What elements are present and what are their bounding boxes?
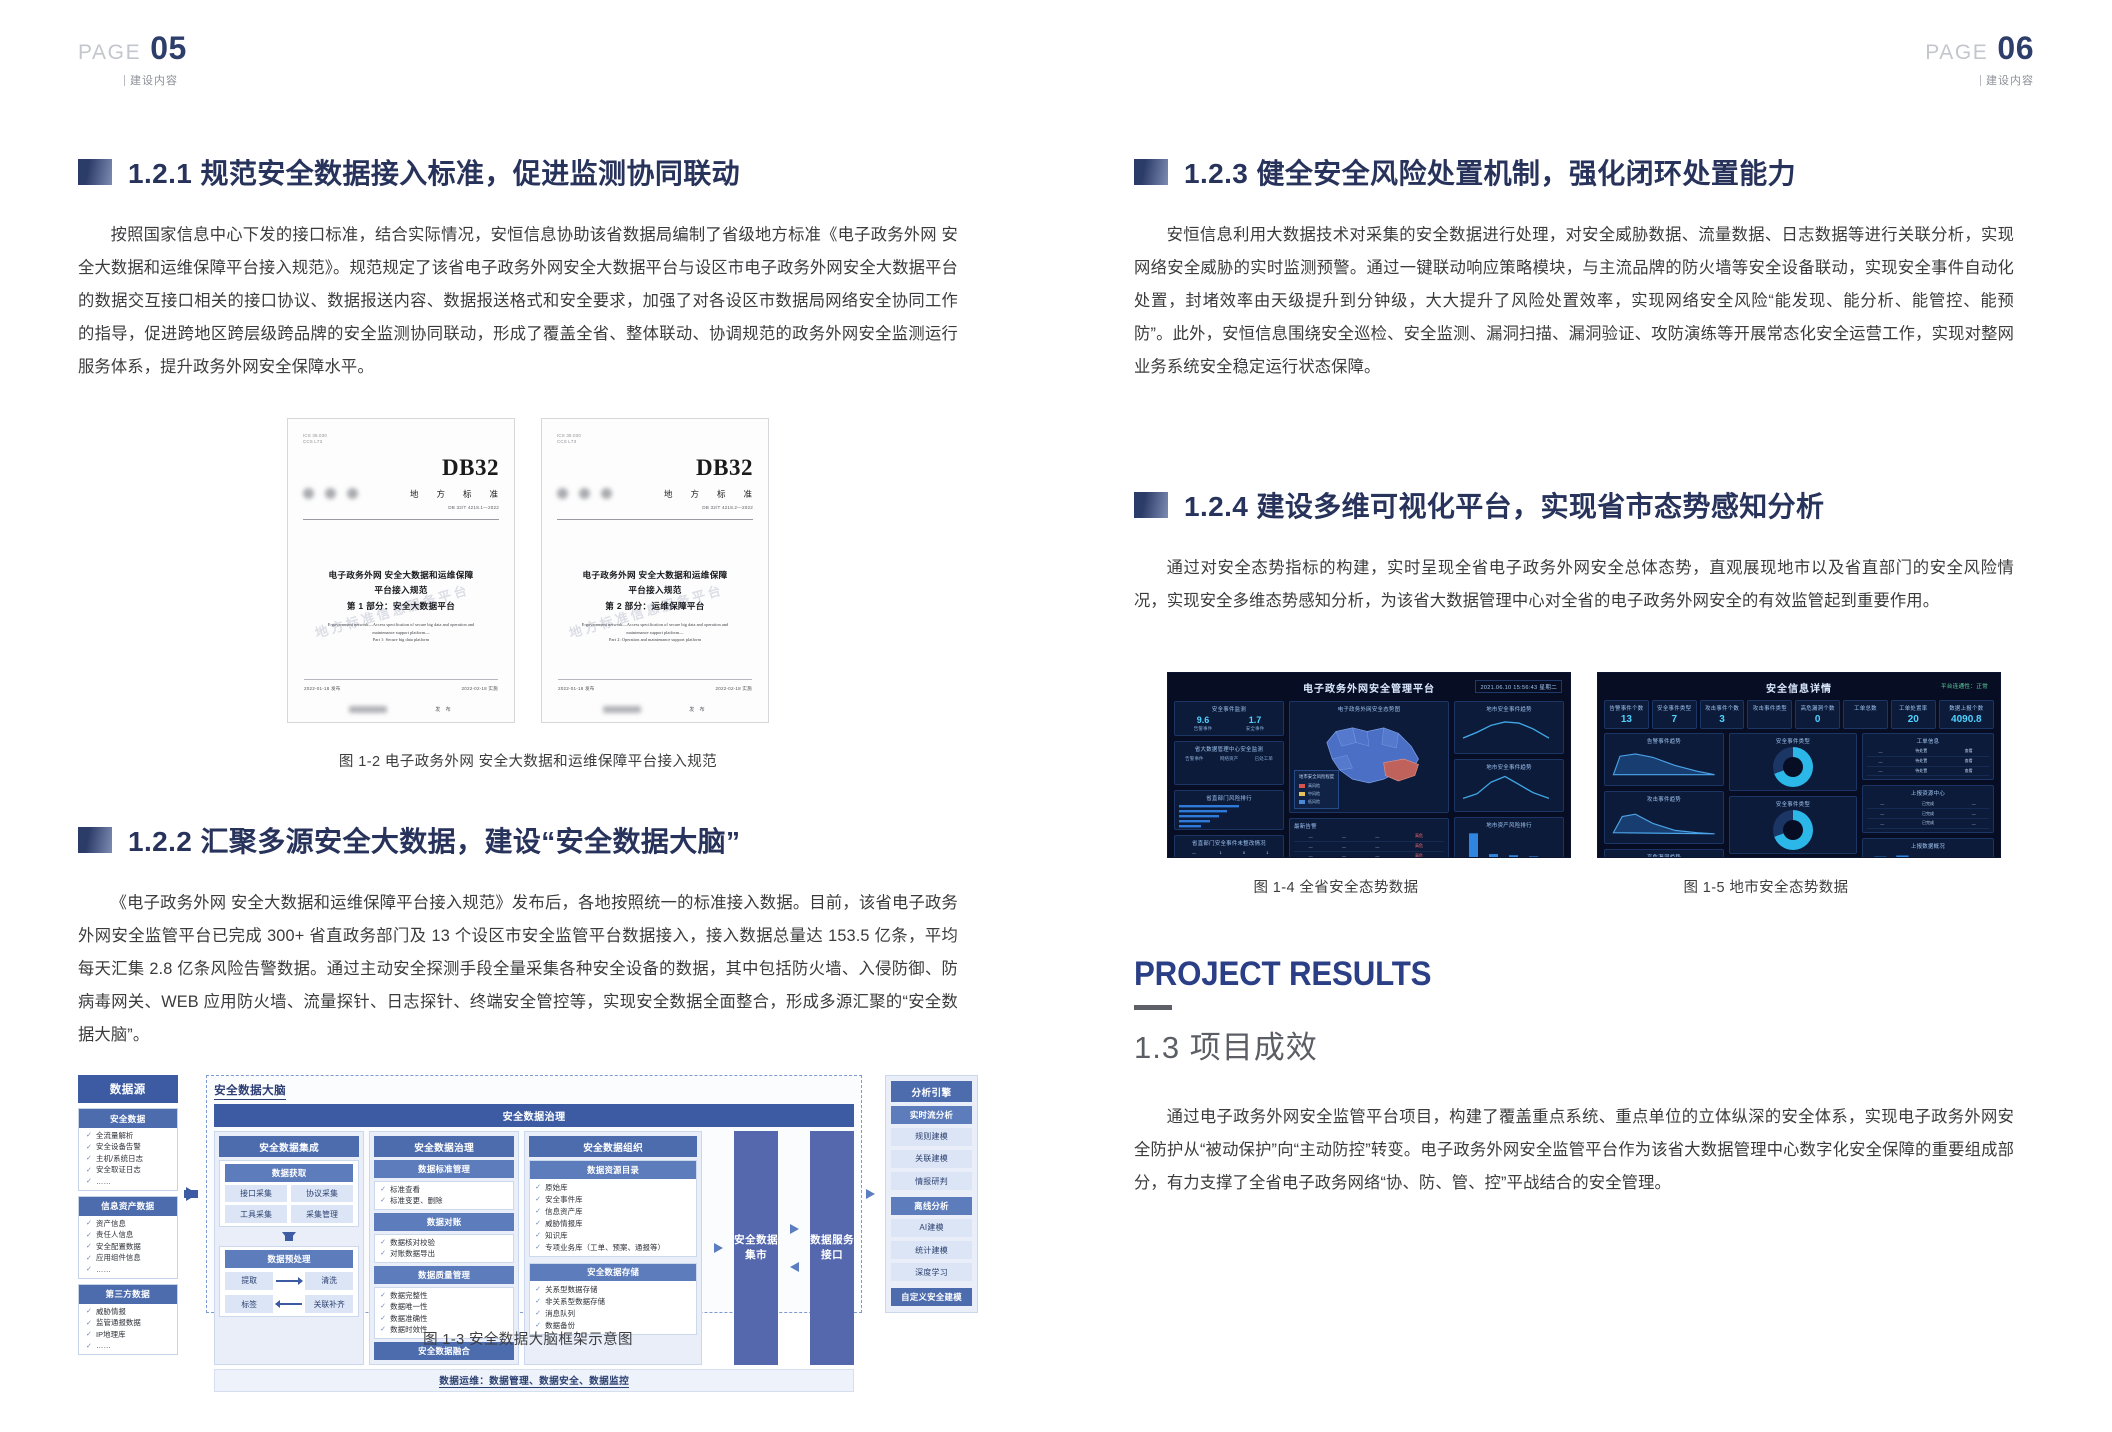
section-122: 1.2.2 汇聚多源安全大数据，建设“安全数据大脑” 《电子政务外网 安全大数据…: [78, 820, 978, 1052]
db32-footer-1: 2022-01-18 发布 2022-02-18 实施: [304, 679, 498, 692]
cell: 待处置: [1894, 756, 1948, 766]
dashboard-1-left-column: 安全事件监测 9.6告警事件 1.7安全事件 省大数据管理中心安全监测 告警事件…: [1174, 701, 1284, 858]
item-label: 标准查看: [390, 1185, 420, 1195]
ticket-table: —待处置查看 —待处置查看 —待处置查看: [1867, 747, 1989, 776]
cell: —: [1867, 799, 1898, 808]
cell: 查看: [1948, 747, 1989, 756]
acquire-cell: 采集管理: [291, 1205, 353, 1223]
db32-label-char: 方: [690, 488, 700, 500]
cell: 1: [1209, 857, 1232, 858]
db32-label-char: 标: [463, 488, 473, 500]
kpi-label: 高危漏洞个数: [1800, 704, 1835, 712]
section-123-title: 1.2.3 健全安全风险处置机制，强化闭环处置能力: [1184, 152, 1796, 192]
data-source-column: 数据源 安全数据 ✓全流量解析 ✓安全设备告警 ✓主机/系统日志 ✓安全取证日志…: [78, 1075, 178, 1313]
list-item: ✓安全取证日志: [86, 1165, 171, 1175]
panel-title: 地市安全事件趋势: [1459, 763, 1559, 771]
table-row: —待处置查看: [1867, 747, 1989, 756]
list-item: ✓……: [86, 1265, 171, 1275]
list-item: ✓应用组件信息: [86, 1253, 171, 1263]
flow-arrow-container: [178, 1075, 207, 1313]
list-item: ✓威胁情报库: [535, 1219, 691, 1229]
table-row: —已完成—: [1867, 809, 1989, 819]
redacted-blob-icon: [347, 488, 358, 499]
storage-block: 安全数据存储 ✓关系型数据存储 ✓非关系型数据存储 ✓消息队列 ✓数据备份: [529, 1263, 697, 1336]
list-item: ✓关系型数据存储: [535, 1285, 691, 1295]
kpi-label: 攻击事件个数: [1705, 704, 1740, 712]
dashboard-1-grid: 安全事件监测 9.6告警事件 1.7安全事件 省大数据管理中心安全监测 告警事件…: [1168, 695, 1570, 858]
divider-bar-icon: [124, 75, 125, 86]
page-word-label: PAGE: [1925, 41, 1988, 65]
source-group-title: 安全数据: [79, 1109, 177, 1128]
arrow-left-icon: [276, 1303, 302, 1304]
check-icon: ✓: [535, 1219, 541, 1228]
db32-logo-row-1: DB32: [303, 455, 499, 481]
item-label: 专项业务库（工单、预案、通报等）: [545, 1243, 665, 1253]
right-page-header: PAGE 06 建设内容: [1925, 30, 2034, 88]
kpi-security-events: 1.7安全事件: [1231, 715, 1279, 732]
dashboard-2-kpi-strip: 告警事件个数13 安全事件类型7 攻击事件个数3 攻击事件类型 高危漏洞个数0 …: [1598, 695, 2000, 729]
panel-title: 地市资产风险排行: [1459, 821, 1559, 829]
figure-1-2-caption: 图 1-2 电子政务外网 安全大数据和运维保障平台接入规范: [78, 750, 978, 771]
panel-title: 安全事件类型: [1776, 800, 1810, 808]
db32-publisher-2: 发 布: [689, 706, 706, 713]
source-group-items: ✓全流量解析 ✓安全设备告警 ✓主机/系统日志 ✓安全取证日志 ✓……: [79, 1128, 177, 1190]
section-123-paragraph: 安恒信息利用大数据技术对采集的安全数据进行处理，对安全威胁数据、流量数据、日志数…: [1134, 219, 2014, 384]
data-brain-label: 安全数据大脑: [214, 1082, 286, 1100]
preprocess-cell: 标签: [225, 1295, 273, 1313]
cell: 0: [1232, 849, 1255, 857]
table-row: ———高危: [1294, 832, 1444, 841]
arrow-right-icon: [186, 1187, 198, 1201]
divider-bar-icon: [1980, 75, 1981, 86]
kpi-value: 9.6: [1197, 715, 1210, 725]
cell: 已完成: [1898, 818, 1959, 828]
check-icon: ✓: [535, 1297, 541, 1306]
latest-alerts-table: ———高危 ———高危 ———高危 ———高危: [1294, 832, 1444, 858]
panel-title: 上报资源中心: [1867, 789, 1989, 797]
redacted-blob-icon: [303, 488, 314, 499]
db32-label-char: 地: [664, 488, 674, 500]
data-brain-region: 安全数据大脑 安全数据治理 安全数据集成 数据获取 接口采集 协议采集: [206, 1075, 862, 1313]
section-124-heading: 1.2.4 建设多维可视化平台，实现省市态势感知分析: [1134, 485, 2034, 525]
panel-ticket-info: 工单信息 —待处置查看 —待处置查看 —待处置查看: [1862, 733, 1994, 780]
dashboard-1-timestamp: 2021.06.10 15:56:43 星期二: [1475, 680, 1562, 693]
db32-effective-date-2: 2022-02-18 实施: [715, 686, 752, 692]
cell: —: [1327, 841, 1360, 851]
db32-label-char: 准: [743, 488, 753, 500]
kpi-value: 13: [1609, 714, 1644, 725]
storage-head: 安全数据存储: [530, 1264, 696, 1282]
table-row: —101: [1179, 849, 1279, 857]
preprocess-cell: 提取: [225, 1272, 273, 1290]
section-121-heading: 1.2.1 规范安全数据接入标准，促进监测协同联动: [78, 152, 978, 192]
list-item: ✓威胁情报: [86, 1307, 171, 1317]
kpi-card: 工单总数: [1843, 700, 1888, 729]
table-row: —已完成—: [1867, 818, 1989, 828]
panel-title: 告警事件趋势: [1609, 737, 1719, 745]
panel-title: 省大数据管理中心安全监测: [1179, 745, 1279, 753]
check-icon: ✓: [86, 1242, 92, 1251]
check-icon: ✓: [380, 1291, 386, 1300]
trend-line-chart: [1459, 715, 1559, 745]
list-item: ✓原始库: [535, 1183, 691, 1193]
integration-title: 安全数据集成: [219, 1136, 359, 1157]
list-item: ✓资产信息: [86, 1219, 171, 1229]
document-spread: PAGE 05 建设内容 1.2.1 规范安全数据接入标准，促进监测协同联动 按…: [0, 0, 2112, 1432]
map-title: 电子政务外网安全态势图: [1294, 705, 1444, 713]
trend-line-chart: [1459, 773, 1559, 803]
kpi-row: 9.6告警事件 1.7安全事件: [1179, 715, 1279, 732]
cell: —: [1361, 832, 1394, 841]
project-results-block: PROJECT RESULTS 1.3 项目成效 通过电子政务外网安全监管平台项…: [1134, 955, 2034, 1200]
left-page: PAGE 05 建设内容 1.2.1 规范安全数据接入标准，促进监测协同联动 按…: [0, 0, 1056, 1432]
list-item: ✓标准变更、删除: [380, 1196, 508, 1206]
quality-mgmt-head: 数据质量管理: [374, 1266, 514, 1284]
page-number-group: PAGE 05: [78, 30, 187, 67]
db32-label-row-2: 地 方 标 准: [557, 488, 753, 500]
page-number: 05: [150, 30, 187, 67]
kpi-tickets: 已处工单: [1248, 755, 1279, 762]
cell: —: [1179, 857, 1209, 858]
item-label: ……: [96, 1177, 111, 1187]
panel-province-map: 电子政务外网安全态势图 地市安全风险程度: [1289, 701, 1449, 813]
section-marker-icon: [1134, 492, 1168, 518]
list-item: ✓全流量解析: [86, 1131, 171, 1141]
dashboard-2-status: 平台连通性：正常: [1937, 680, 1992, 691]
kpi-label: 告警事件个数: [1609, 704, 1644, 712]
source-group-asset-data: 信息资产数据 ✓资产信息 ✓责任人信息 ✓安全配置数据 ✓应用组件信息 ✓……: [78, 1196, 178, 1279]
kpi-label: 数据上报个数: [1944, 704, 1989, 712]
section-122-heading: 1.2.2 汇聚多源安全大数据，建设“安全数据大脑”: [78, 820, 978, 860]
db32-label-char: 方: [436, 488, 446, 500]
kpi-card: 安全事件类型7: [1652, 700, 1697, 729]
data-source-header: 数据源: [78, 1075, 178, 1103]
check-icon: ✓: [380, 1249, 386, 1258]
source-group-items: ✓资产信息 ✓责任人信息 ✓安全配置数据 ✓应用组件信息 ✓……: [79, 1216, 177, 1278]
engine-connector: [862, 1075, 879, 1313]
panel-city-asset-risk: 地市资产风险排行: [1454, 817, 1564, 858]
db32-label-char: 准: [489, 488, 499, 500]
preprocess-cell: 关联补齐: [305, 1295, 353, 1313]
panel-dept-unresolved: 省直部门安全事件未整改情况 —101 —101 —101 —000: [1174, 835, 1284, 858]
check-icon: ✓: [535, 1243, 541, 1252]
unresolved-table: —101 —101 —101 —000: [1179, 849, 1279, 858]
item-label: 原始库: [545, 1183, 567, 1193]
section-121: 1.2.1 规范安全数据接入标准，促进监测协同联动 按照国家信息中心下发的接口标…: [78, 152, 978, 384]
panel-event-type-2: 安全事件类型: [1729, 796, 1857, 854]
cell: —: [1294, 841, 1327, 851]
db32-label-char: 标: [717, 488, 727, 500]
item-label: 资产信息: [96, 1219, 126, 1229]
kpi-card: 攻击事件个数3: [1700, 700, 1745, 729]
check-icon: ✓: [535, 1183, 541, 1192]
panel-city-event-trend-1: 地市安全事件趋势: [1454, 701, 1564, 754]
list-item: ✓数据核对校验: [380, 1238, 508, 1248]
kpi-card: 高危漏洞个数0: [1795, 700, 1840, 729]
project-results-en-title: PROJECT RESULTS: [1134, 955, 1962, 994]
table-row: ———高危: [1294, 851, 1444, 858]
item-label: 信息资产库: [545, 1207, 582, 1217]
engine-item: 情报研判: [891, 1172, 972, 1190]
page-header-subtitle-text: 建设内容: [1986, 72, 2034, 88]
panel-event-type-1: 安全事件类型: [1729, 733, 1857, 791]
kpi-label: 网络资产: [1214, 756, 1245, 762]
panel-security-event-monitor: 安全事件监测 9.6告警事件 1.7安全事件: [1174, 701, 1284, 736]
check-icon: ✓: [86, 1143, 92, 1152]
item-label: 监管通报数据: [96, 1318, 141, 1328]
db32-issuer-1: 发 布: [288, 706, 514, 713]
title-underline-rule: [1134, 1005, 1172, 1010]
dashboard-2-col-3: 工单信息 —待处置查看 —待处置查看 —待处置查看 上报资源中心 —已完成—: [1862, 733, 1994, 858]
arrow-right-icon: [714, 1243, 723, 1253]
cell: 高危: [1394, 851, 1444, 858]
legend-label: 高风险: [1308, 783, 1320, 789]
cell: —: [1327, 832, 1360, 841]
item-label: 安全事件库: [545, 1195, 582, 1205]
item-label: 应用组件信息: [96, 1253, 141, 1263]
figure-1-3-caption: 图 1-3 安全数据大脑框架示意图: [78, 1328, 978, 1349]
list-item: ✓数据唯一性: [380, 1302, 508, 1312]
cell: —: [1959, 809, 1990, 819]
cell: 0: [1232, 857, 1255, 858]
donut-chart: [1773, 747, 1813, 787]
db32-issuer-2: 发 布: [542, 706, 768, 713]
standard-mgmt-head: 数据标准管理: [374, 1160, 514, 1178]
dashboard-captions: 图 1-4 全省安全态势数据 图 1-5 地市安全态势数据: [1134, 876, 2034, 897]
arrow-right-icon: [866, 1189, 875, 1199]
page-header-subtitle: 建设内容: [78, 72, 178, 88]
list-item: ✓知识库: [535, 1231, 691, 1241]
cell: —: [1294, 832, 1327, 841]
acquire-row-2: 工具采集 采集管理: [225, 1205, 353, 1223]
section-121-paragraph: 按照国家信息中心下发的接口标准，结合实际情况，安恒信息协助该省数据局编制了省级地…: [78, 219, 958, 384]
source-group-security-data: 安全数据 ✓全流量解析 ✓安全设备告警 ✓主机/系统日志 ✓安全取证日志 ✓……: [78, 1108, 178, 1191]
panel-title: 最新告警: [1294, 822, 1444, 830]
ranking-bars: [1179, 804, 1279, 830]
source-group-title: 第三方数据: [79, 1285, 177, 1304]
cell: 1: [1256, 857, 1279, 858]
table-row: —待处置查看: [1867, 766, 1989, 776]
redacted-blob-icon: [325, 488, 336, 499]
check-icon: ✓: [86, 1166, 92, 1175]
kpi-value: 20: [1896, 714, 1931, 725]
list-item: ✓安全事件库: [535, 1195, 691, 1205]
engine-item: 规则建模: [891, 1128, 972, 1146]
db32-standard-part2: ICS 35.030 CCS L73 DB32 地 方 标 准 DB 32/T …: [541, 418, 769, 723]
donut-chart: [1773, 810, 1813, 850]
cell: —: [1959, 799, 1990, 808]
item-label: 消息队列: [545, 1309, 575, 1319]
kpi-alert: 告警事件: [1179, 755, 1210, 762]
section-marker-icon: [78, 159, 112, 185]
project-results-cn-title: 1.3 项目成效: [1134, 1022, 2034, 1067]
db32-logo-row-2: DB32: [557, 455, 753, 481]
page-header-subtitle: 建设内容: [1980, 72, 2034, 88]
item-label: 全流量解析: [96, 1131, 133, 1141]
db32-standard-label-1: 地 方 标 准: [410, 488, 499, 500]
reconciliation-head: 数据对账: [374, 1213, 514, 1231]
governance-top-bar: 安全数据治理: [214, 1104, 854, 1127]
custom-modeling: 自定义安全建模: [891, 1288, 972, 1306]
check-icon: ✓: [380, 1196, 386, 1205]
preprocess-block: 数据预处理 提取 清洗 标签: [219, 1246, 359, 1317]
cell: 查看: [1948, 756, 1989, 766]
check-icon: ✓: [86, 1177, 92, 1186]
item-label: 对账数据导出: [390, 1249, 435, 1259]
cell: 1: [1256, 849, 1279, 857]
dashboard-1-right-column: 地市安全事件趋势 地市安全事件趋势 地市资产风险排行: [1454, 701, 1564, 858]
right-page: PAGE 06 建设内容 1.2.3 健全安全风险处置机制，强化闭环处置能力 安…: [1056, 0, 2112, 1432]
list-item: ✓对账数据导出: [380, 1249, 508, 1259]
page-number: 06: [1997, 30, 2034, 67]
item-label: ……: [96, 1265, 111, 1275]
arrow-right-icon: [276, 1280, 302, 1281]
legend-label: 低风险: [1308, 799, 1320, 805]
preprocess-row-1: 提取 清洗: [225, 1272, 353, 1290]
check-icon: ✓: [86, 1154, 92, 1163]
reconciliation-items: ✓数据核对校验 ✓对账数据导出: [374, 1234, 514, 1263]
page-header-subtitle-text: 建设内容: [130, 72, 178, 88]
item-label: 主机/系统日志: [96, 1154, 143, 1164]
kpi-card: 告警事件个数13: [1604, 700, 1649, 729]
panel-bigdata-center-monitor: 省大数据管理中心安全监测 告警事件 网络资产 已处工单: [1174, 741, 1284, 785]
cell: 已完成: [1898, 809, 1959, 819]
dashboard-city-situation: 安全信息详情 平台连通性：正常 告警事件个数13 安全事件类型7 攻击事件个数3…: [1597, 672, 2001, 858]
acquire-block: 数据获取 接口采集 协议采集 工具采集 采集管理: [219, 1160, 359, 1227]
data-ops-text: 数据运维：数据管理、数据安全、数据监控: [439, 1376, 629, 1388]
kpi-label: 安全事件: [1231, 726, 1279, 732]
kpi-label: 工单总数: [1848, 704, 1883, 712]
redacted-issuer-blob-icon: [349, 706, 387, 713]
preprocess-title: 数据预处理: [225, 1250, 353, 1268]
db32-issue-date-1: 2022-01-18 发布: [304, 686, 341, 692]
kpi-card: 工单处置率20: [1891, 700, 1936, 729]
acquire-row-1: 接口采集 协议采集: [225, 1185, 353, 1203]
db32-footer-2: 2022-01-18 发布 2022-02-18 实施: [558, 679, 752, 692]
realtime-head: 实时流分析: [891, 1106, 972, 1124]
db32-logo-1: DB32: [442, 455, 499, 481]
cell: —: [1327, 851, 1360, 858]
db32-publisher-1: 发 布: [435, 706, 452, 713]
panel-latest-alerts: 最新告警 ———高危 ———高危 ———高危 ———高危: [1289, 818, 1449, 858]
engine-title: 分析引擎: [891, 1081, 972, 1102]
section-123: 1.2.3 健全安全风险处置机制，强化闭环处置能力 安恒信息利用大数据技术对采集…: [1134, 152, 2034, 384]
redacted-blob-icon: [601, 488, 612, 499]
data-ops-bar: 数据运维：数据管理、数据安全、数据监控: [214, 1369, 854, 1392]
kpi-value: 4090.8: [1944, 714, 1989, 725]
db32-standard-number-1: DB 32/T 4218.1—2022: [303, 505, 499, 510]
arrow-down-icon: [282, 1232, 296, 1241]
kpi-label: 已处工单: [1248, 756, 1279, 762]
check-icon: ✓: [380, 1302, 386, 1311]
item-label: 非关系型数据存储: [545, 1297, 605, 1307]
preprocess-row-2: 标签 关联补齐: [225, 1295, 353, 1313]
legend-item: 低风险: [1299, 799, 1334, 805]
check-icon: ✓: [535, 1195, 541, 1204]
legend-label: 中风险: [1308, 791, 1320, 797]
arrow-right-icon: [790, 1224, 799, 1234]
table-row: —已完成—: [1867, 799, 1989, 808]
figure-1-2-images: ICS 35.030 CCS L73 DB32 地 方 标 准 DB 32/T …: [78, 418, 978, 723]
figure-1-4-caption: 图 1-4 全省安全态势数据: [1134, 876, 1538, 897]
list-item: ✓安全设备告警: [86, 1142, 171, 1152]
panel-alert-trend: 告警事件趋势: [1604, 733, 1724, 786]
area-chart: [1609, 805, 1719, 835]
upload-bar-chart: [1867, 852, 1989, 858]
map-legend: 地市安全风险程度 高风险 中风险 低风险: [1294, 770, 1339, 809]
db32-label-char: 地: [410, 488, 420, 500]
page-word-label: PAGE: [78, 41, 141, 65]
redacted-blob-icon: [557, 488, 568, 499]
acquire-cell: 接口采集: [225, 1185, 287, 1203]
redacted-blob-icon: [579, 488, 590, 499]
section-124-paragraph: 通过对安全态势指标的构建，实时呈现全省电子政务外网安全总体态势，直观展现地市以及…: [1134, 552, 2014, 618]
check-icon: ✓: [535, 1207, 541, 1216]
kpi-value: 0: [1800, 714, 1835, 725]
cell: —: [1361, 851, 1394, 858]
panel-attack-trend: 攻击事件趋势: [1604, 791, 1724, 844]
cell: —: [1867, 747, 1894, 756]
item-label: 关系型数据存储: [545, 1285, 597, 1295]
section-123-heading: 1.2.3 健全安全风险处置机制，强化闭环处置能力: [1134, 152, 2034, 192]
item-label: 威胁情报库: [545, 1219, 582, 1229]
list-item: ✓责任人信息: [86, 1230, 171, 1240]
section-marker-icon: [78, 827, 112, 853]
panel-title: 安全事件监测: [1179, 705, 1279, 713]
cell: —: [1867, 756, 1894, 766]
check-icon: ✓: [86, 1265, 92, 1274]
panel-title: 地市安全事件趋势: [1459, 705, 1559, 713]
dashboard-province-situation: 电子政务外网安全管理平台 2021.06.10 15:56:43 星期二 安全事…: [1167, 672, 1571, 858]
db32-ics-code-2: ICS 35.030 CCS L73: [557, 433, 753, 446]
engine-item: 深度学习: [891, 1263, 972, 1281]
kpi-row: 告警事件 网络资产 已处工单: [1179, 755, 1279, 762]
check-icon: ✓: [380, 1238, 386, 1247]
offline-head: 离线分析: [891, 1197, 972, 1215]
kpi-label: 告警事件: [1179, 726, 1227, 732]
check-icon: ✓: [86, 1131, 92, 1140]
panel-title: 安全事件类型: [1776, 737, 1810, 745]
catalog-head: 数据资源目录: [530, 1161, 696, 1179]
cell: 高危: [1394, 832, 1444, 841]
kpi-value: 7: [1657, 714, 1692, 725]
list-item: ✓信息资产库: [535, 1207, 691, 1217]
item-label: 责任人信息: [96, 1230, 133, 1240]
redacted-issuer-blob-icon: [603, 706, 641, 713]
section-124-title: 1.2.4 建设多维可视化平台，实现省市态势感知分析: [1184, 485, 1824, 525]
figure-1-3-diagram: 数据源 安全数据 ✓全流量解析 ✓安全设备告警 ✓主机/系统日志 ✓安全取证日志…: [78, 1075, 978, 1313]
db32-issue-date-2: 2022-01-18 发布: [558, 686, 595, 692]
cell: —: [1867, 818, 1898, 828]
item-label: 安全配置数据: [96, 1242, 141, 1252]
panel-title: 上报数据概况: [1867, 842, 1989, 850]
panel-title: 省直部门风险排行: [1179, 794, 1279, 802]
acquire-cell: 工具采集: [225, 1205, 287, 1223]
cell: —: [1179, 849, 1209, 857]
list-item: ✓专项业务库（工单、预案、通报等）: [535, 1243, 691, 1253]
check-icon: ✓: [86, 1231, 92, 1240]
check-icon: ✓: [535, 1285, 541, 1294]
item-label: 数据完整性: [390, 1291, 427, 1301]
panel-upload-center: 上报资源中心 —已完成— —已完成— —已完成—: [1862, 785, 1994, 832]
figure-1-5-caption: 图 1-5 地市安全态势数据: [1564, 876, 1968, 897]
preprocess-cell: 清洗: [305, 1272, 353, 1290]
list-item: ✓非关系型数据存储: [535, 1297, 691, 1307]
project-results-paragraph: 通过电子政务外网安全监管平台项目，构建了覆盖重点系统、重点单位的立体纵深的安全体…: [1134, 1101, 2014, 1200]
cell: 已完成: [1898, 799, 1959, 808]
panel-title: 高危漏洞趋势: [1609, 853, 1719, 858]
kpi-alert-events: 9.6告警事件: [1179, 715, 1227, 732]
